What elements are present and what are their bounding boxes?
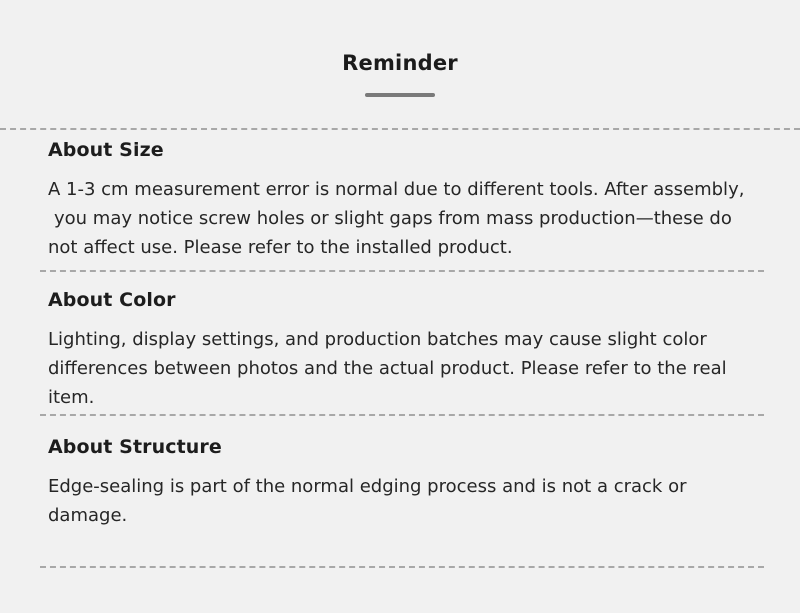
page-title: Reminder [0,50,800,76]
body-line: not affect use. Please refer to the inst… [48,233,764,262]
body-line: Lighting, display settings, and producti… [48,325,764,354]
section-heading-about-structure: About Structure [48,435,764,459]
body-line: A 1-3 cm measurement error is normal due… [48,175,764,204]
section-heading-about-color: About Color [48,288,764,312]
reminder-page: Reminder About Size A 1-3 cm measurement… [0,0,800,613]
title-underline-bar [365,93,435,97]
body-line: item. [48,383,764,412]
divider-after-size [40,270,764,272]
divider-bottom [40,566,764,568]
section-about-color: About Color Lighting, display settings, … [48,288,764,412]
divider-top [0,128,800,130]
title-block: Reminder [0,50,800,97]
body-line: damage. [48,501,764,530]
section-body-about-color: Lighting, display settings, and producti… [48,325,764,412]
section-heading-about-size: About Size [48,138,764,162]
body-line: Edge-sealing is part of the normal edgin… [48,472,764,501]
section-about-size: About Size A 1-3 cm measurement error is… [48,138,764,262]
body-line: differences between photos and the actua… [48,354,764,383]
section-body-about-size: A 1-3 cm measurement error is normal due… [48,175,764,262]
divider-after-color [40,414,764,416]
body-line: you may notice screw holes or slight gap… [48,204,764,233]
section-body-about-structure: Edge-sealing is part of the normal edgin… [48,472,764,530]
section-about-structure: About Structure Edge-sealing is part of … [48,435,764,530]
